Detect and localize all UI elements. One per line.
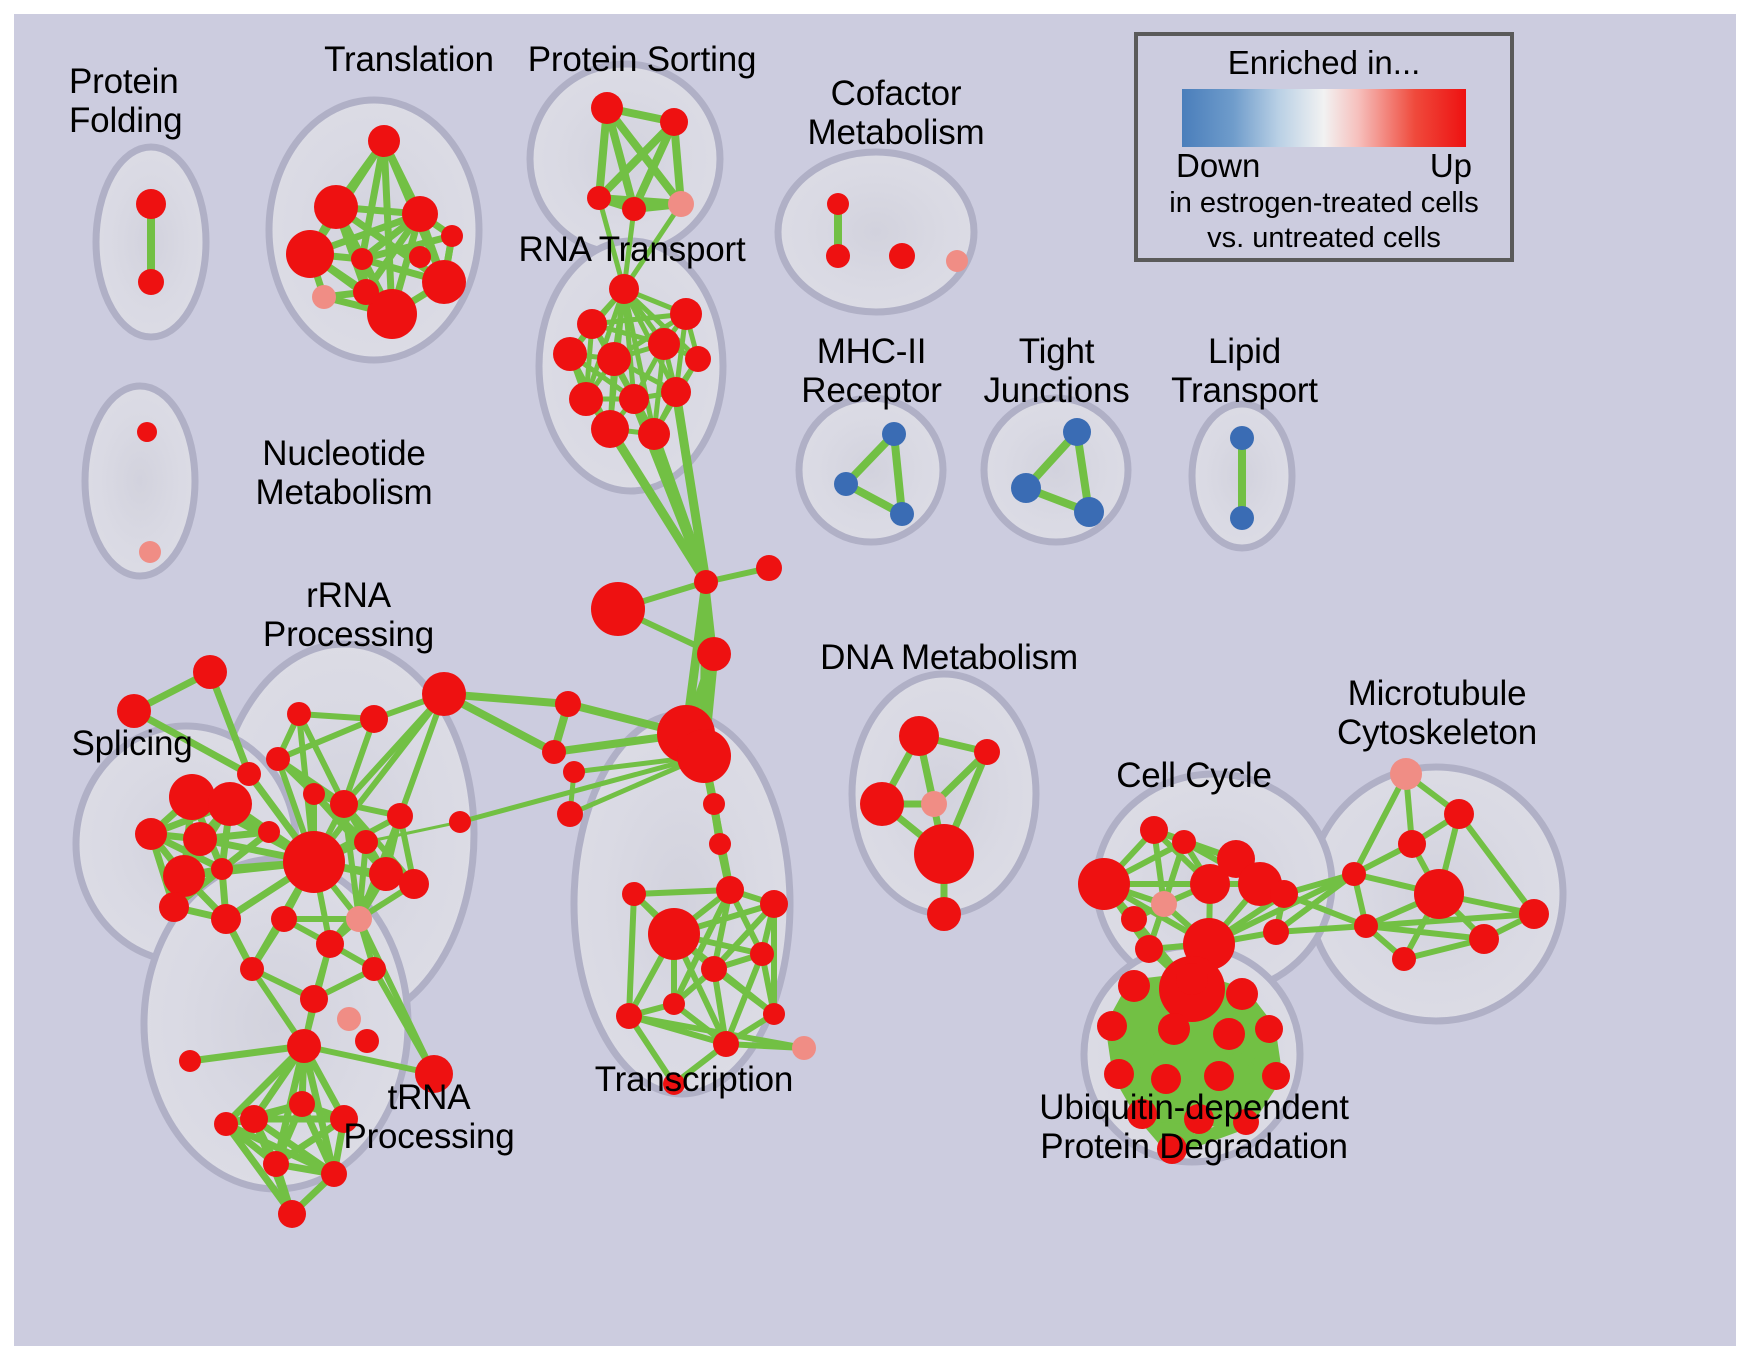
legend-subtitle-line1: in estrogen-treated cells [1154, 187, 1494, 220]
legend-high-label: Up [1430, 147, 1472, 185]
hull-mhc-ii-receptor [799, 398, 943, 542]
cluster-label-protein-sorting: Protein Sorting [492, 40, 792, 79]
figure-canvas: Protein Folding Translation Protein Sort… [0, 0, 1750, 1360]
hull-cofactor-metabolism [778, 152, 974, 312]
legend-color-gradient-bar [1182, 89, 1466, 147]
legend-low-label: Down [1176, 147, 1260, 185]
cluster-label-nucleotide-metabolism: Nucleotide Metabolism [199, 434, 489, 512]
cluster-label-cofactor-metabolism: Cofactor Metabolism [776, 74, 1016, 152]
cluster-label-ubiquitin-degradation: Ubiquitin-dependent Protein Degradation [984, 1088, 1404, 1166]
hull-protein-sorting [530, 64, 720, 254]
cluster-label-trna-processing: tRNA Processing [304, 1078, 554, 1156]
legend-subtitle-line2: vs. untreated cells [1154, 222, 1494, 255]
cluster-label-lipid-transport: Lipid Transport [1132, 332, 1357, 410]
legend-title: Enriched in... [1154, 44, 1494, 82]
cluster-label-rna-transport: RNA Transport [482, 230, 782, 269]
cluster-label-protein-folding: Protein Folding [69, 62, 279, 140]
network-plot-area: Protein Folding Translation Protein Sort… [14, 14, 1736, 1346]
cluster-label-transcription: Transcription [559, 1060, 829, 1099]
hull-tight-junctions [984, 398, 1128, 542]
cluster-label-rrna-processing: rRNA Processing [236, 576, 461, 654]
cluster-label-microtubule-cytoskeleton: Microtubule Cytoskeleton [1292, 674, 1582, 752]
cluster-label-splicing: Splicing [32, 724, 232, 763]
cluster-label-cell-cycle: Cell Cycle [1084, 756, 1304, 795]
color-legend: Enriched in... Down Up in estrogen-treat… [1134, 32, 1514, 262]
cluster-label-dna-metabolism: DNA Metabolism [799, 638, 1099, 677]
